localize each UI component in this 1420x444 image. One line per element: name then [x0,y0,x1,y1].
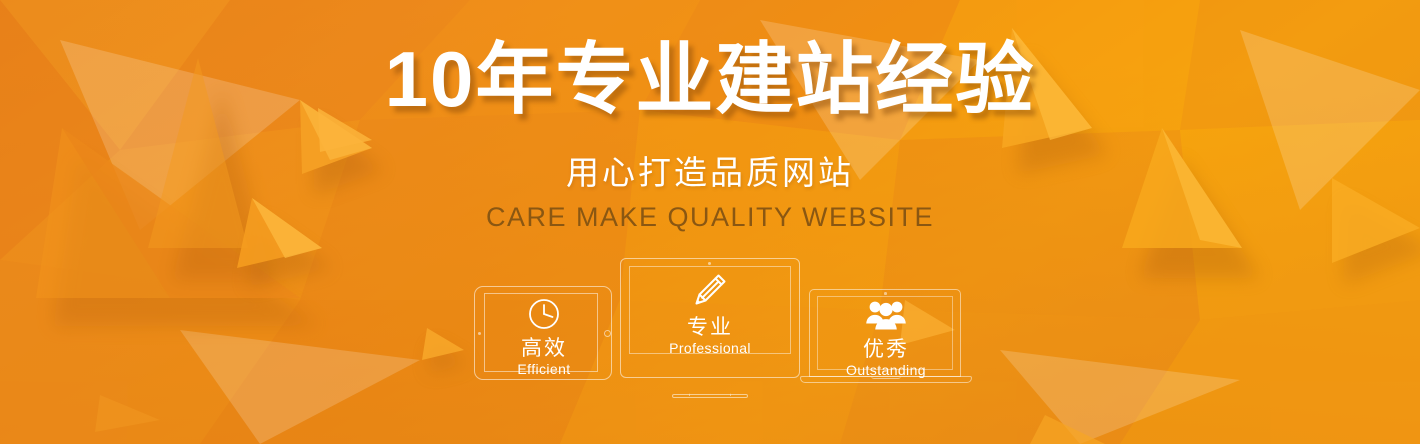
clock-icon [527,297,561,331]
feature-card-professional[interactable]: 专业 Professional [620,258,800,400]
tablet-camera-icon [478,332,481,335]
feature-card-efficient[interactable]: 高效 Efficient [474,286,614,382]
hero-banner: 10年专业建站经验 用心打造品质网站 CARE MAKE QUALITY WEB… [0,0,1420,444]
people-group-icon [865,298,907,332]
feature-label-en-professional: Professional [620,339,800,358]
laptop-camera-icon [884,292,887,295]
feature-label-en-efficient: Efficient [474,360,614,379]
monitor-stand-base [672,394,748,398]
feature-device-group: 高效 Efficient 专业 [0,0,1420,444]
monitor-camera-icon [708,262,711,265]
pencil-icon [690,270,730,310]
feature-label-cn-outstanding: 优秀 [800,337,972,363]
feature-label-en-outstanding: Outstanding [800,361,972,380]
feature-label-cn-efficient: 高效 [474,336,614,362]
feature-label-cn-professional: 专业 [620,315,800,341]
feature-card-outstanding[interactable]: 优秀 Outstanding [800,289,972,387]
